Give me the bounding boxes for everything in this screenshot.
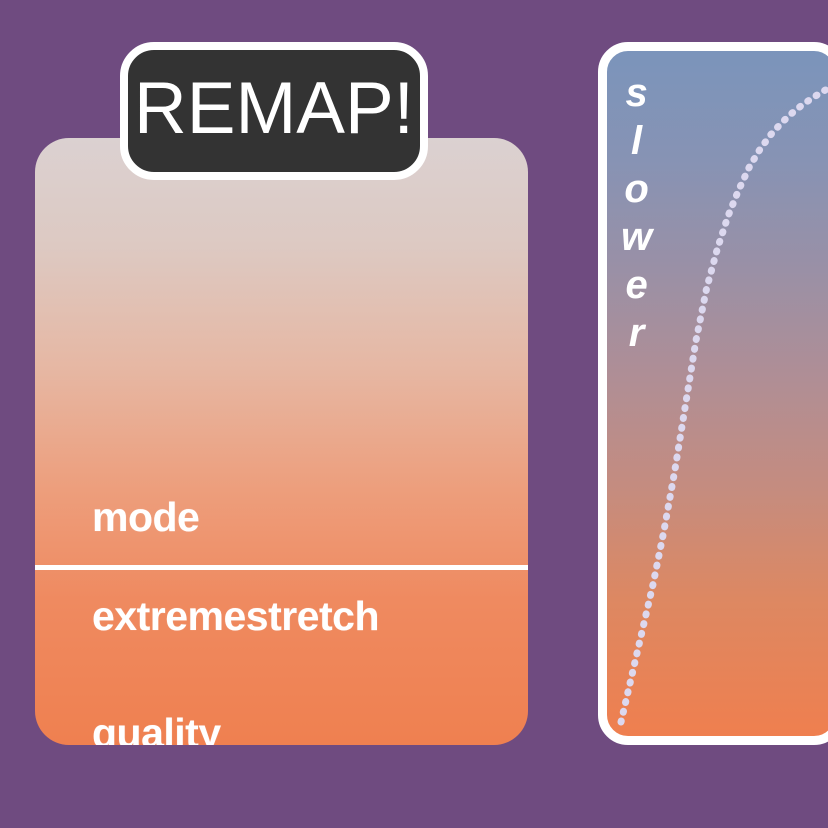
- quality-label: quality: [92, 713, 221, 745]
- remap-curve-line: [621, 85, 828, 722]
- graph-panel[interactable]: s l o w e r: [598, 42, 828, 745]
- screen-root: mode extremestretch quality better REMAP…: [0, 0, 828, 828]
- mode-value: extremestretch: [92, 596, 379, 637]
- mode-label: mode: [92, 497, 199, 538]
- remap-curve-chart: [607, 51, 828, 736]
- remap-badge-label: REMAP!: [134, 72, 414, 151]
- settings-card: mode extremestretch quality better: [35, 138, 528, 745]
- row-divider-1: [35, 565, 528, 570]
- remap-badge[interactable]: REMAP!: [120, 42, 428, 180]
